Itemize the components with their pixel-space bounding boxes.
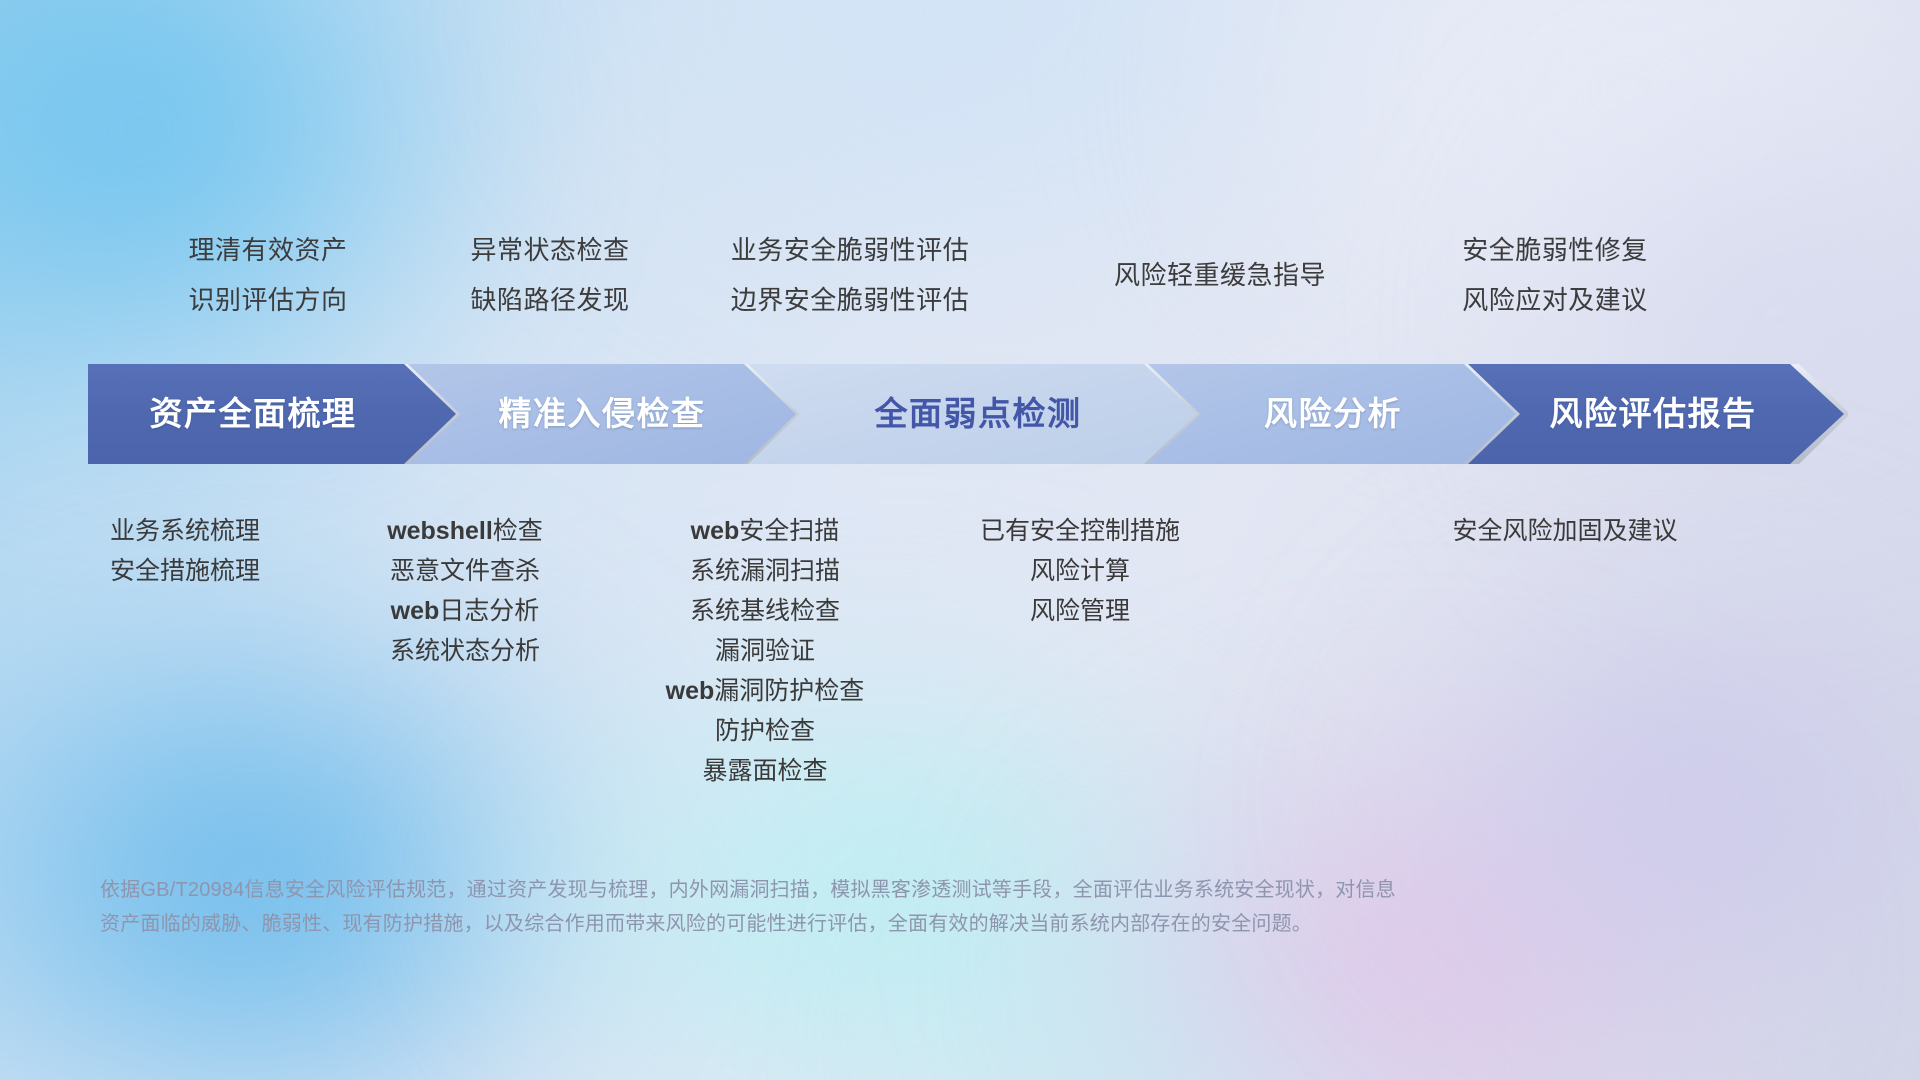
detail-item-lead: web: [691, 517, 740, 545]
detail-item-lead: webshell: [387, 517, 493, 545]
bottom-column-risk-analysis: 已有安全控制措施风险计算风险管理: [860, 511, 1300, 631]
footnote-line-2: 资产面临的威胁、脆弱性、现有防护措施，以及综合作用而带来风险的可能性进行评估，全…: [100, 907, 1820, 941]
stage-label-weakness-detection[interactable]: 全面弱点检测: [778, 364, 1178, 464]
top-item: 安全脆弱性修复: [1335, 225, 1775, 275]
detail-item: 已有安全控制措施: [860, 511, 1300, 551]
bottom-column-assessment-report: 安全风险加固及建议: [1345, 511, 1785, 551]
detail-item: 风险计算: [860, 551, 1300, 591]
stage-label-assessment-report[interactable]: 风险评估报告: [1488, 364, 1818, 464]
detail-item: 防护检查: [545, 711, 985, 751]
diagram-stage: 理清有效资产识别评估方向 异常状态检查缺陷路径发现 业务安全脆弱性评估边界安全脆…: [0, 0, 1920, 1080]
footnote-line-1: 依据GB/T20984信息安全风险评估规范，通过资产发现与梳理，内外网漏洞扫描，…: [100, 873, 1820, 907]
detail-item-lead: web: [391, 597, 440, 625]
detail-item: 风险管理: [860, 591, 1300, 631]
detail-item: web漏洞防护检查: [545, 671, 985, 711]
detail-item: 安全风险加固及建议: [1345, 511, 1785, 551]
detail-item-lead: web: [666, 677, 715, 705]
top-column-assessment-report: 安全脆弱性修复风险应对及建议: [1335, 225, 1775, 325]
stage-label-intrusion-check[interactable]: 精准入侵检查: [428, 364, 776, 464]
footnote: 依据GB/T20984信息安全风险评估规范，通过资产发现与梳理，内外网漏洞扫描，…: [100, 873, 1820, 941]
top-item: 风险应对及建议: [1335, 275, 1775, 325]
stage-label-asset-review[interactable]: 资产全面梳理: [88, 364, 418, 464]
stage-label-risk-analysis[interactable]: 风险分析: [1168, 364, 1498, 464]
process-chevron-band: 资产全面梳理 精准入侵检查 全面弱点检测 风险分析 风险评估报告: [88, 364, 1848, 464]
detail-item: 漏洞验证: [545, 631, 985, 671]
detail-item: 暴露面检查: [545, 751, 985, 791]
